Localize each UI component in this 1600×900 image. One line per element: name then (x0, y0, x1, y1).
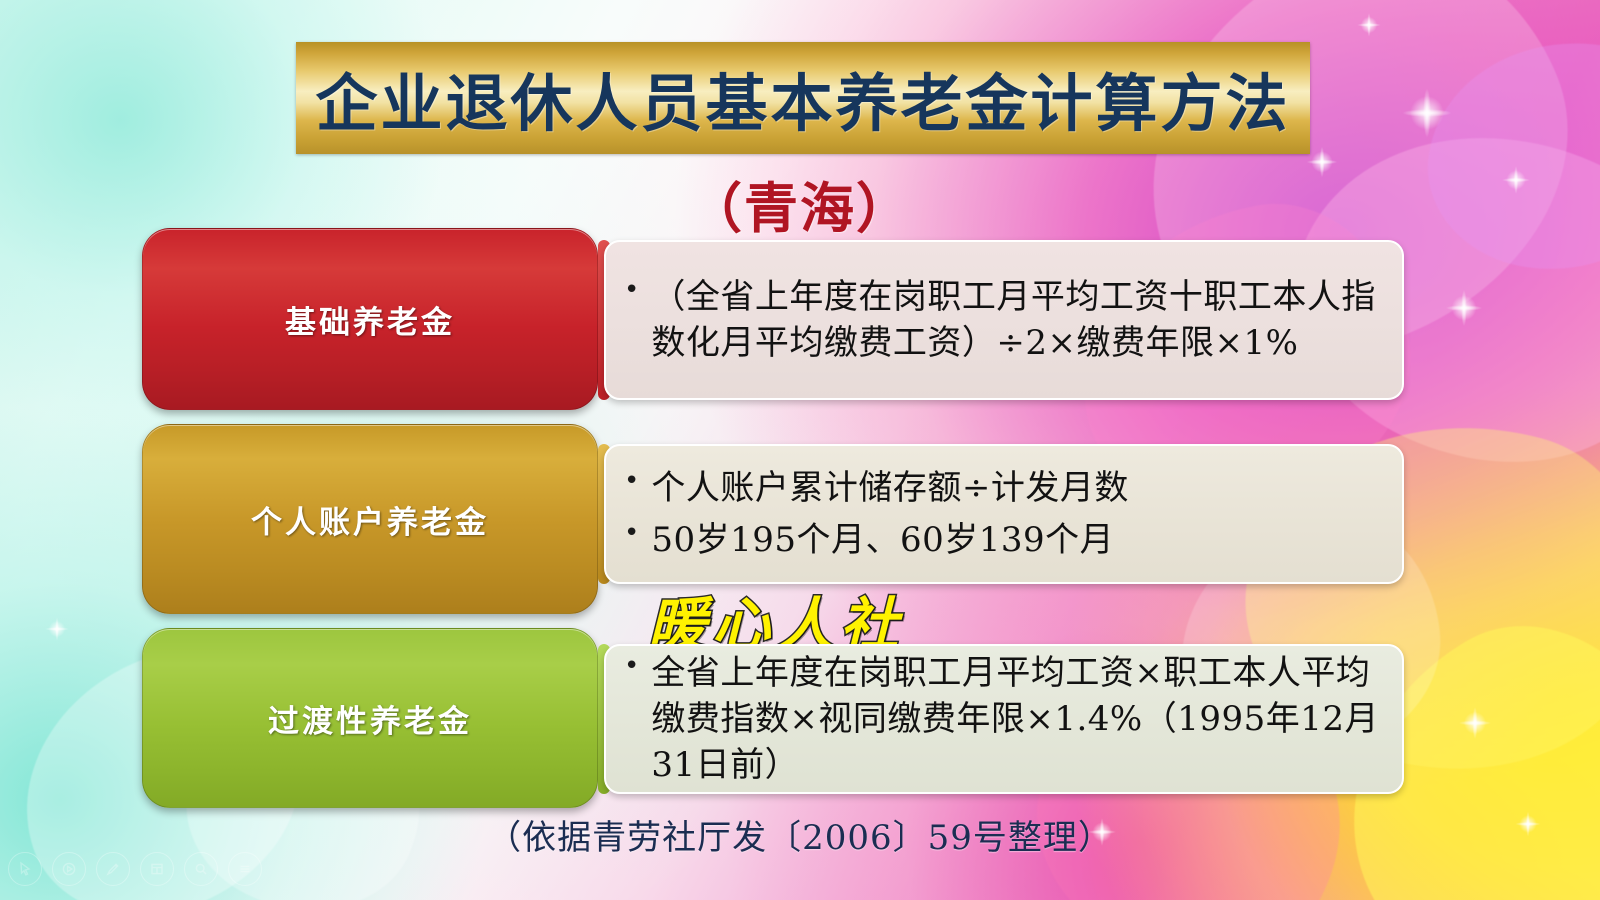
bullet-text: 个人账户累计储存额÷计发月数 (651, 465, 1129, 511)
label-text: 基础养老金 (285, 297, 455, 342)
page-title: 企业退休人员基本养老金计算方法 (315, 53, 1290, 143)
label-text: 个人账户养老金 (251, 497, 489, 542)
slideshow-toolbar[interactable] (8, 852, 262, 886)
slide-canvas: 企业退休人员基本养老金计算方法 （青海） 基础养老金 • （全省上年度在岗职工月… (0, 0, 1600, 900)
pen-icon[interactable] (96, 852, 130, 886)
bullet-dot-icon: • (624, 649, 639, 683)
play-icon[interactable] (52, 852, 86, 886)
content-panel-transitional-pension: • 全省上年度在岗职工月平均工资×职工本人平均缴费指数×视同缴费年限×1.4%（… (604, 644, 1404, 794)
bullet-text: 全省上年度在岗职工月平均工资×职工本人平均缴费指数×视同缴费年限×1.4%（19… (651, 650, 1380, 789)
bullet-dot-icon: • (624, 516, 639, 550)
bullet-text: 50岁195个月、60岁139个月 (651, 517, 1114, 563)
label-box-transitional-pension[interactable]: 过渡性养老金 (142, 628, 598, 808)
bullet-text: （全省上年度在岗职工月平均工资十职工本人指数化月平均缴费工资）÷2×缴费年限×1… (651, 274, 1380, 366)
pointer-icon[interactable] (8, 852, 42, 886)
bullet-dot-icon: • (624, 273, 639, 307)
bullet-item: • 全省上年度在岗职工月平均工资×职工本人平均缴费指数×视同缴费年限×1.4%（… (624, 650, 1380, 789)
content-panel-basic-pension: • （全省上年度在岗职工月平均工资十职工本人指数化月平均缴费工资）÷2×缴费年限… (604, 240, 1404, 400)
bullet-item: • 个人账户累计储存额÷计发月数 (624, 465, 1380, 511)
menu-icon[interactable] (228, 852, 262, 886)
zoom-icon[interactable] (184, 852, 218, 886)
label-text: 过渡性养老金 (268, 696, 472, 741)
label-box-personal-account-pension[interactable]: 个人账户养老金 (142, 424, 598, 614)
bullet-dot-icon: • (624, 464, 639, 498)
label-box-basic-pension[interactable]: 基础养老金 (142, 228, 598, 410)
content-panel-personal-account-pension: • 个人账户累计储存额÷计发月数 • 50岁195个月、60岁139个月 (604, 444, 1404, 584)
title-banner: 企业退休人员基本养老金计算方法 (296, 42, 1310, 154)
bullet-item: • 50岁195个月、60岁139个月 (624, 517, 1380, 563)
grid-icon[interactable] (140, 852, 174, 886)
bullet-item: • （全省上年度在岗职工月平均工资十职工本人指数化月平均缴费工资）÷2×缴费年限… (624, 274, 1380, 366)
